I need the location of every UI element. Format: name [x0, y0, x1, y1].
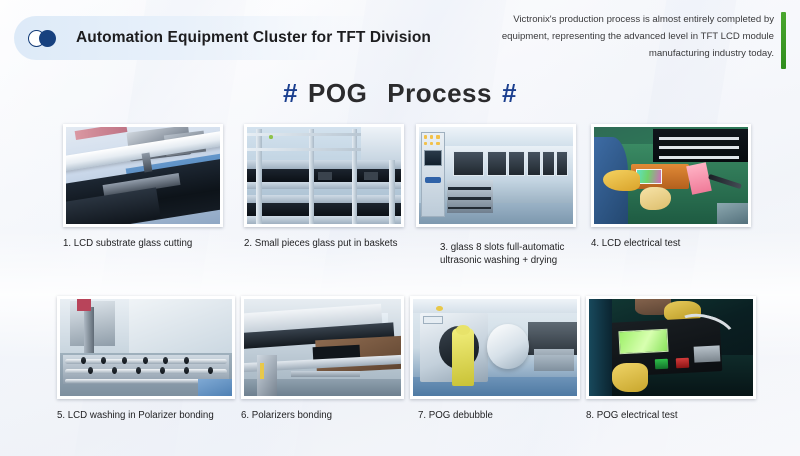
step-8-photo[interactable] [586, 296, 756, 399]
process-step-2[interactable] [244, 124, 404, 227]
step-6-photo[interactable] [241, 296, 404, 399]
hash-left: # [283, 78, 298, 108]
step-1-caption: 1. LCD substrate glass cutting [63, 238, 192, 251]
step-7-photo[interactable] [410, 296, 580, 399]
process-row-1: 1. LCD substrate glass cutting [0, 124, 800, 272]
process-step-3[interactable] [416, 124, 576, 227]
process-row-2: 5. LCD washing in Polarizer bonding [0, 296, 800, 444]
intro-accent-bar [781, 12, 786, 69]
section-title-main: POG [308, 78, 367, 108]
process-step-1[interactable] [63, 124, 223, 227]
process-step-5[interactable] [57, 296, 235, 399]
step-7-caption: 7. POG debubble [418, 410, 493, 423]
step-4-photo[interactable] [591, 124, 751, 227]
step-5-photo[interactable] [57, 296, 235, 399]
title-pill: Automation Equipment Cluster for TFT Div… [14, 16, 389, 60]
page-title: Automation Equipment Cluster for TFT Div… [76, 29, 431, 47]
toggle-switch-icon [28, 30, 58, 47]
intro-paragraph: Victronix's production process is almost… [466, 11, 774, 62]
section-title-sub: Process [387, 78, 492, 108]
step-2-caption: 2. Small pieces glass put in baskets [244, 238, 397, 251]
section-title: #POGProcess# [0, 78, 800, 109]
hash-right: # [502, 78, 517, 108]
process-step-4[interactable] [591, 124, 751, 227]
step-8-caption: 8. POG electrical test [586, 410, 678, 423]
process-step-6[interactable] [241, 296, 404, 399]
step-4-caption: 4. LCD electrical test [591, 238, 680, 251]
process-step-7[interactable] [410, 296, 580, 399]
step-3-caption: 3. glass 8 slots full-automatic ultrason… [440, 242, 590, 268]
process-step-8[interactable] [586, 296, 756, 399]
step-6-caption: 6. Polarizers bonding [241, 410, 332, 423]
slide-root: Automation Equipment Cluster for TFT Div… [0, 0, 800, 456]
step-2-photo[interactable] [244, 124, 404, 227]
slide-header: Automation Equipment Cluster for TFT Div… [0, 0, 800, 72]
step-3-photo[interactable] [416, 124, 576, 227]
process-grid: 1. LCD substrate glass cutting [0, 124, 800, 444]
step-5-caption: 5. LCD washing in Polarizer bonding [57, 410, 214, 423]
step-1-photo[interactable] [63, 124, 223, 227]
